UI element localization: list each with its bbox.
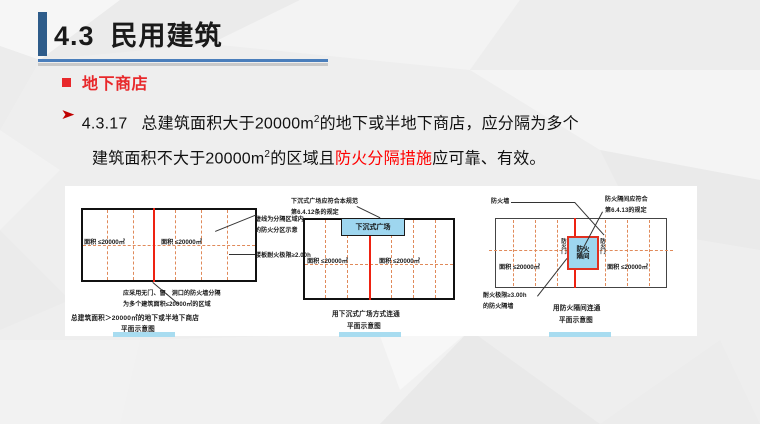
panel3-dash-v1 (513, 220, 514, 286)
section-heading: 地下商店 (62, 70, 148, 94)
title-underline (38, 59, 328, 62)
panel3-dash-v3 (557, 220, 558, 286)
panel1-area-label-right: 面积 ≤20000㎡ (161, 237, 202, 246)
clause-line-1: 4.3.17总建筑面积大于20000m2的地下或半地下商店，应分隔为多个 (82, 104, 579, 139)
panel2-box-label: 下沉式广场 (356, 222, 391, 232)
panel3-note-2: 的防火隔墙 (483, 301, 514, 310)
clause-highlight: 防火分隔措施 (335, 151, 432, 168)
panel3-area-label-left: 面积 ≤20000㎡ (499, 262, 540, 271)
title-label: 民用建筑 (111, 21, 223, 51)
panel1-callout-1: 应采用无门、窗、洞口的防火墙分隔 (123, 288, 221, 297)
panel2-dash-v5 (435, 220, 436, 298)
panel3-dash-v6 (649, 220, 650, 286)
clause-line-2: 建筑面积不大于20000m2的区域且防火分隔措施应可靠、有效。 (92, 139, 702, 174)
panel2-blue-underline (339, 332, 401, 337)
panel2-annotation-1: 下沉式广场应符合本规范 (291, 196, 358, 205)
figure-container: 面积 ≤20000㎡ 面积 ≤20000㎡ 虚线为分隔区域内 的防火分区示意 楼… (65, 186, 697, 336)
clause-block: ➤ 4.3.17总建筑面积大于20000m2的地下或半地下商店，应分隔为多个 建… (62, 104, 702, 175)
clause-text-c: 建筑面积不大于20000m (92, 151, 264, 168)
panel1-leader-2 (229, 254, 255, 255)
title-underline-shadow (38, 63, 328, 66)
panel3-caption-1: 用防火隔间连通 (553, 302, 601, 312)
panel1-firewall-line (153, 208, 155, 282)
clause-text-b: 的地下或半地下商店，应分隔为多个 (320, 115, 579, 132)
figure-panel-2: 下沉式广场 面积 ≤20000㎡ 面积 ≤20000㎡ 下沉式广场应符合本规范 … (289, 186, 479, 336)
panel2-leader-1 (357, 206, 381, 218)
panel3-blue-underline (549, 332, 611, 337)
figure-panel-3: 防火 隔间 防火门 防火门 面积 ≤20000㎡ 面积 ≤20000㎡ 防火墙 … (479, 186, 697, 336)
panel2-area-label-right: 面积 ≤20000㎡ (379, 256, 420, 265)
panel2-caption-1: 用下沉式广场方式连通 (332, 308, 400, 318)
clause-text-d: 的区域且 (270, 151, 335, 168)
slide-title-area: 4.3民用建筑 (0, 8, 760, 60)
panel1-area-label-left: 面积 ≤20000㎡ (84, 237, 125, 246)
panel2-annotation-2: 第6.4.12条的规定 (291, 207, 339, 216)
title-accent-bar (38, 12, 47, 56)
panel3-leader-1 (511, 202, 575, 203)
panel3-caption-2: 平面示意图 (559, 314, 593, 324)
panel3-door-label-left: 防火门 (559, 238, 567, 254)
arrow-bullet-icon: ➤ (61, 104, 76, 124)
panel3-door-label-right: 防火门 (598, 238, 606, 254)
panel3-dash-v2 (535, 220, 536, 286)
panel2-firewall-line (369, 230, 371, 300)
page-title: 4.3民用建筑 (54, 14, 223, 53)
section-heading-label: 地下商店 (82, 70, 148, 94)
panel1-callout-2: 为多个建筑面积≤20000㎡的区域 (123, 299, 211, 308)
clause-text-e: 应可靠、有效。 (432, 151, 545, 168)
panel3-annotation-2: 第6.4.13的规定 (605, 205, 647, 214)
figure-panel-1: 面积 ≤20000㎡ 面积 ≤20000㎡ 虚线为分隔区域内 的防火分区示意 楼… (65, 186, 289, 336)
panel3-area-label-right: 面积 ≤20000㎡ (607, 262, 648, 271)
clause-text-a: 总建筑面积大于20000m (141, 115, 313, 132)
panel2-caption-2: 平面示意图 (347, 320, 381, 330)
panel1-blue-underline (113, 332, 175, 337)
panel3-note-1: 耐火极限≥3.00h (483, 290, 527, 299)
clause-number: 4.3.17 (82, 115, 128, 132)
panel3-annotation-1: 防火隔间应符合 (605, 194, 648, 203)
title-number: 4.3 (54, 21, 95, 51)
panel1-caption-1: 总建筑面积＞20000㎡的地下或半地下商店 (71, 312, 199, 322)
square-bullet-icon (62, 78, 71, 87)
panel3-label-firewall: 防火墙 (491, 196, 509, 205)
panel2-sunken-plaza-box: 下沉式广场 (341, 218, 405, 236)
panel3-dash-v5 (627, 220, 628, 286)
panel2-area-label-left: 面积 ≤20000㎡ (307, 256, 348, 265)
panel3-fire-compartment-box: 防火 隔间 (567, 236, 599, 270)
